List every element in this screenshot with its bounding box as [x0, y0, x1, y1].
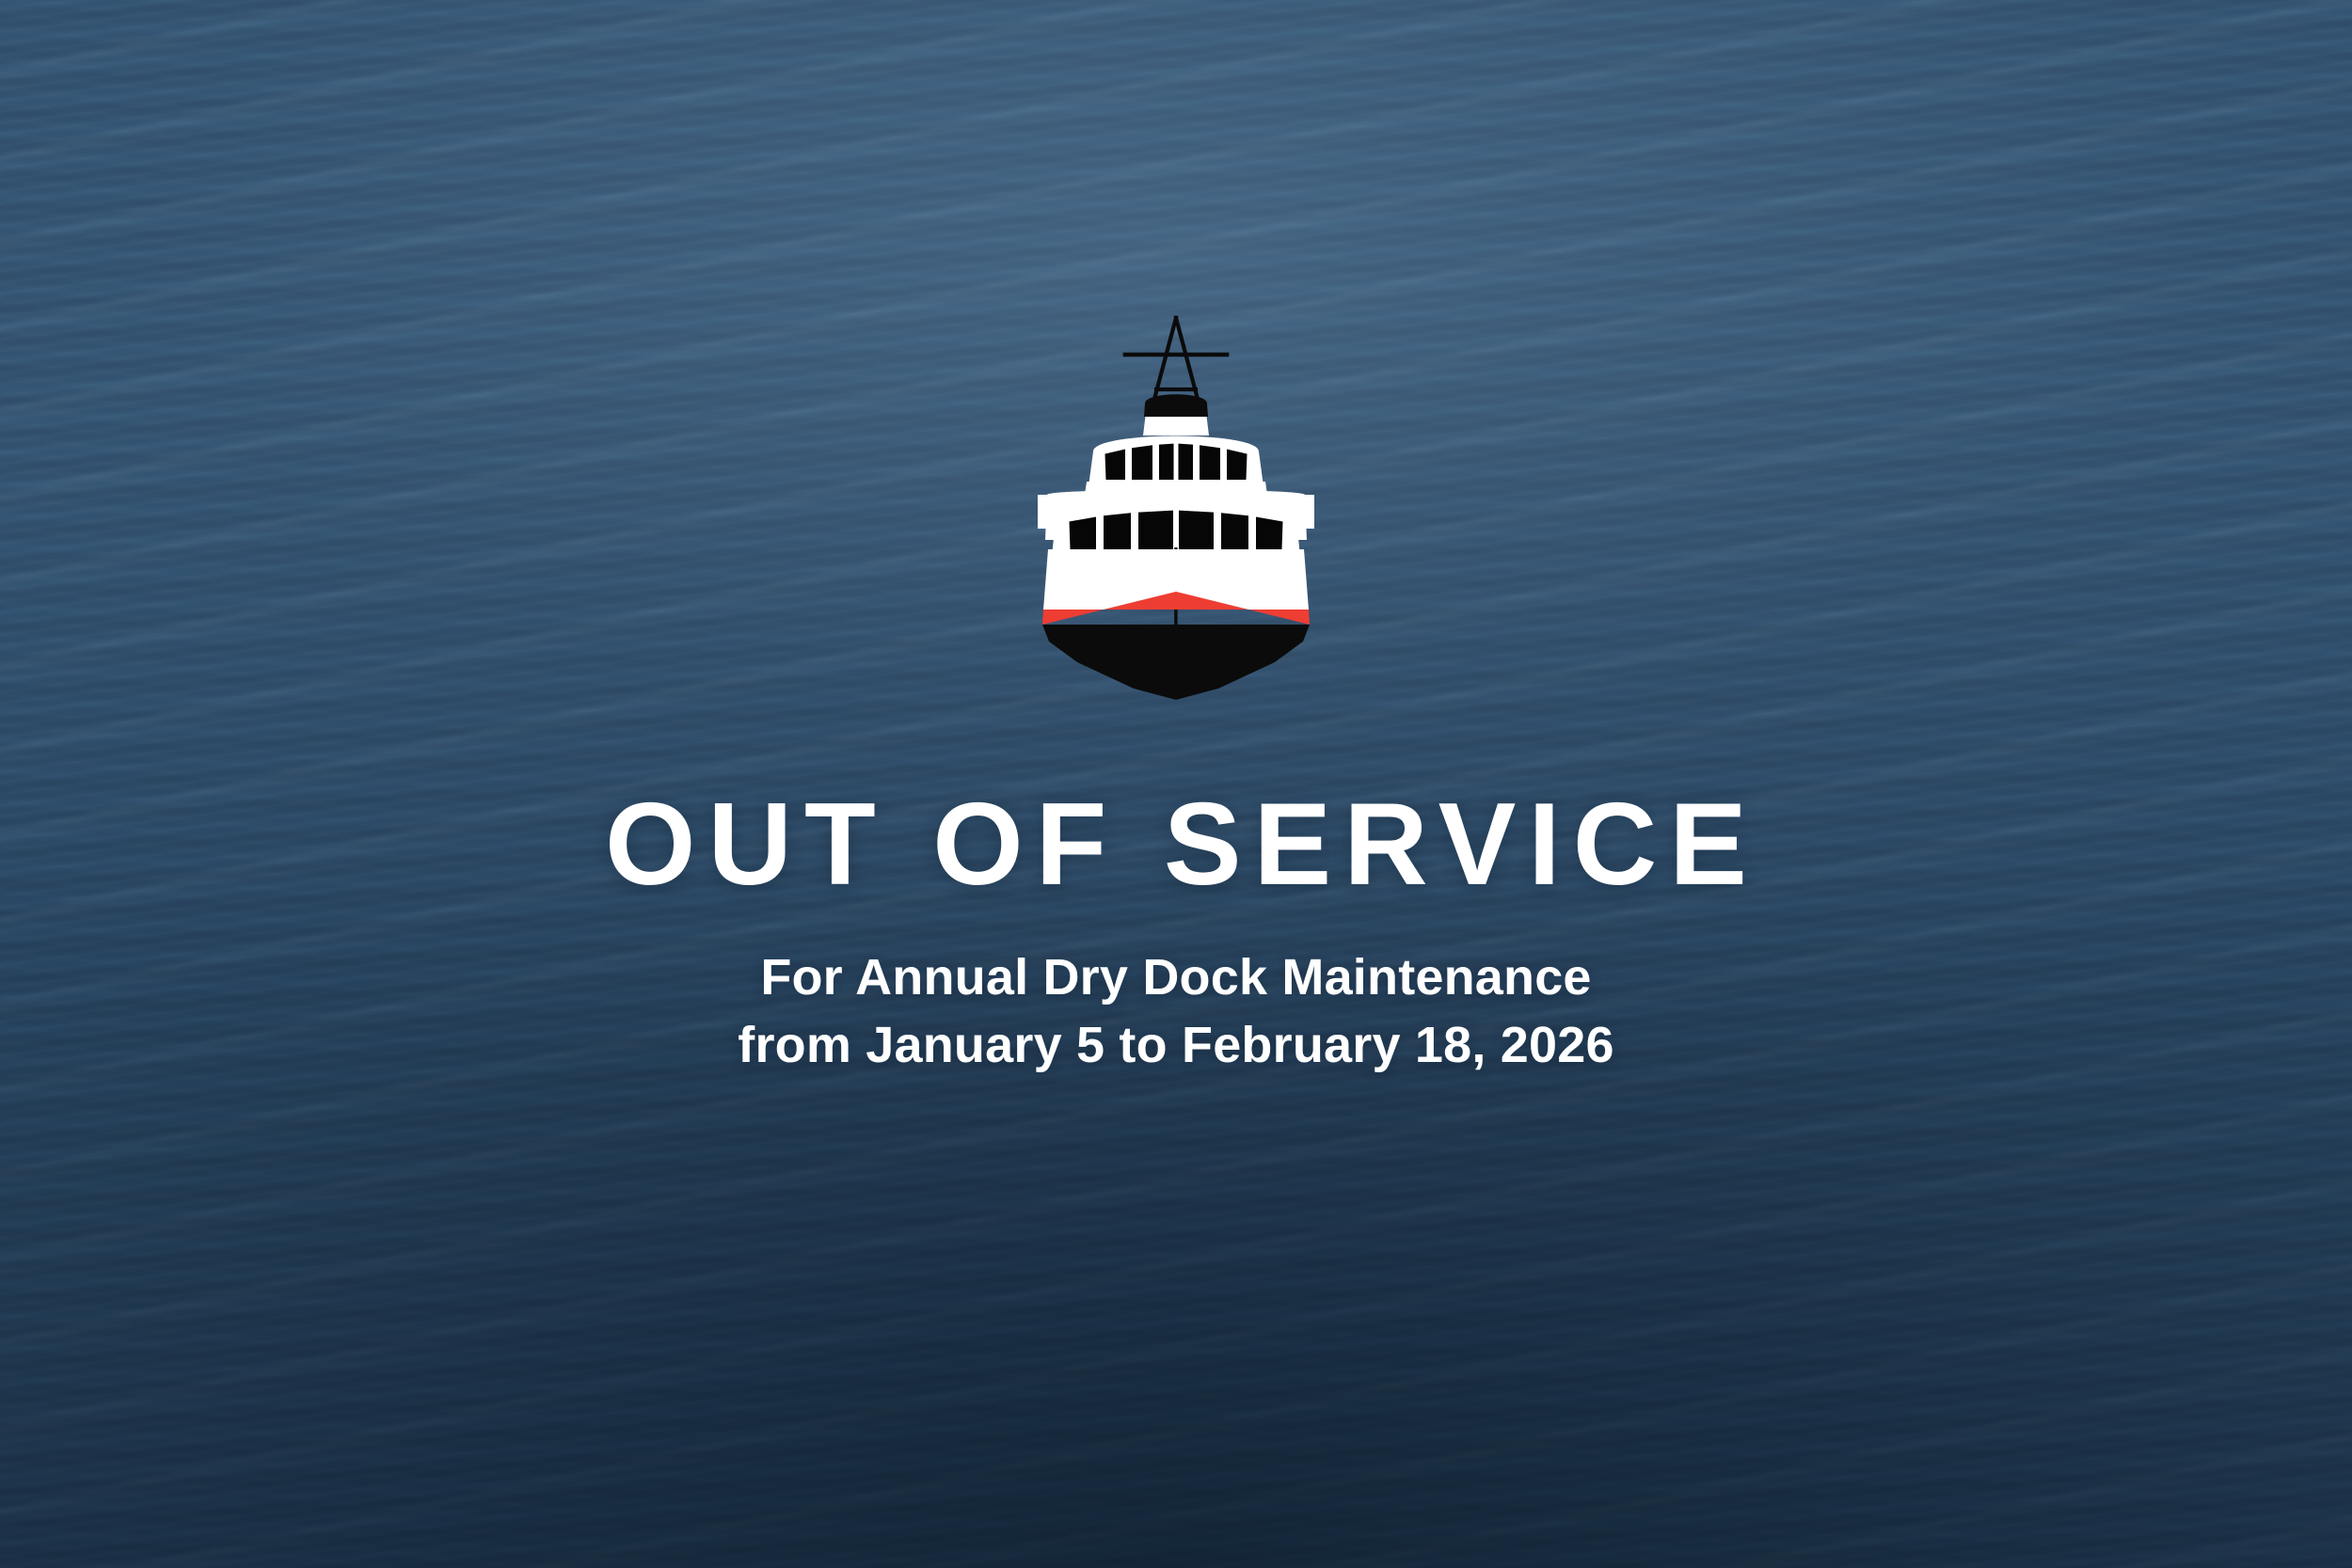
ferry-hull-black [1042, 625, 1310, 700]
ferry-mast-icon [1125, 318, 1227, 403]
notice-text-block: OUT OF SERVICE For Annual Dry Dock Maint… [0, 786, 2352, 1080]
out-of-service-notice: OUT OF SERVICE For Annual Dry Dock Maint… [0, 0, 2352, 1568]
ferry-funnel-cap-fill [1144, 394, 1208, 417]
notice-subtitle: For Annual Dry Dock Maintenance from Jan… [0, 903, 2352, 1080]
ferry-bow-icon [1030, 310, 1322, 704]
page-title: OUT OF SERVICE [0, 786, 2352, 903]
notice-subtitle-line-2: from January 5 to February 18, 2026 [0, 1012, 2352, 1080]
notice-subtitle-line-1: For Annual Dry Dock Maintenance [0, 944, 2352, 1012]
